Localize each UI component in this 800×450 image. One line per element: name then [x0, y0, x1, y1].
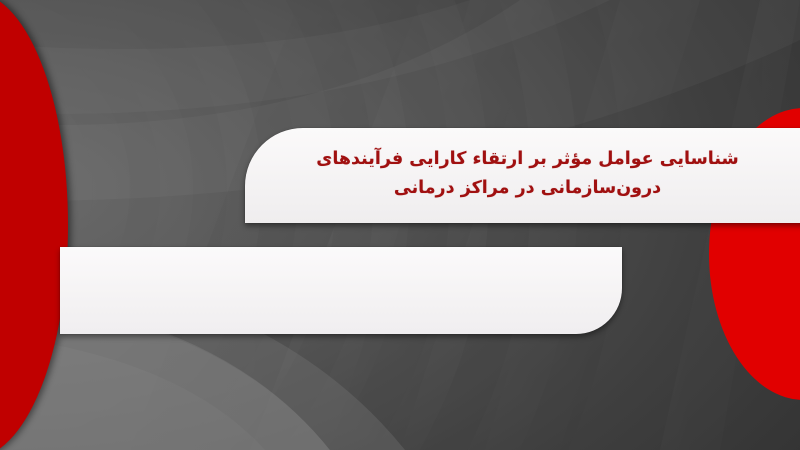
background-swirl-pattern: [0, 0, 800, 450]
title-panel: شناسایی عوامل مؤثر بر ارتقاء کارایی فرآی…: [245, 128, 800, 223]
content-panel-text: [60, 247, 622, 267]
title-line-2: درون‌سازمانی در مراکز درمانی: [271, 174, 784, 202]
page-title: شناسایی عوامل مؤثر بر ارتقاء کارایی فرآی…: [245, 145, 800, 206]
presentation-slide: شناسایی عوامل مؤثر بر ارتقاء کارایی فرآی…: [0, 0, 800, 450]
content-panel: [60, 247, 622, 334]
title-line-1: شناسایی عوامل مؤثر بر ارتقاء کارایی فرآی…: [271, 145, 784, 173]
